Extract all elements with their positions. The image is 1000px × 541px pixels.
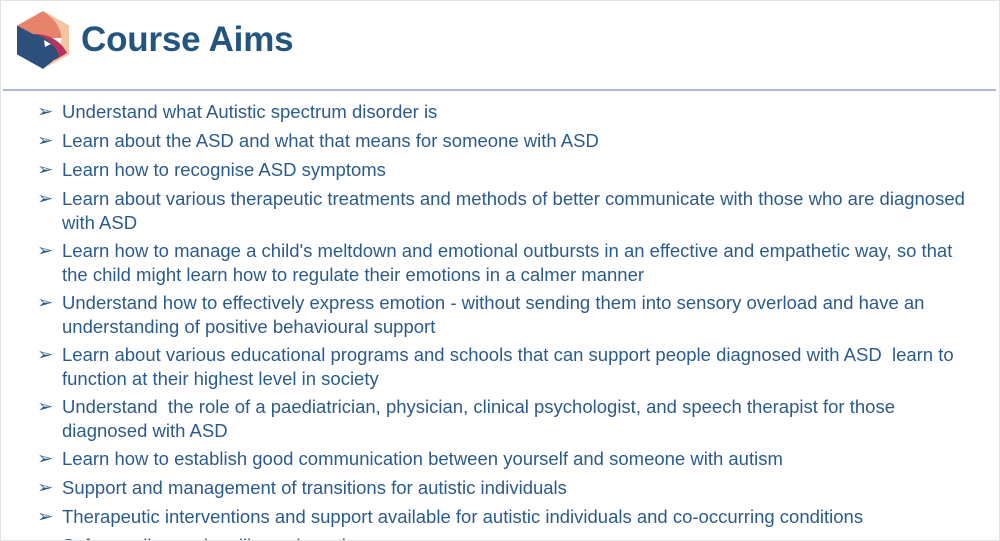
list-item-text: Learn about various therapeutic treatmen… (62, 187, 982, 234)
arrowhead-bullet-icon: ➢ (37, 158, 66, 182)
arrowhead-bullet-icon: ➢ (37, 187, 66, 211)
course-aims-list: ➢ Understand what Autistic spectrum diso… (1, 100, 1000, 541)
list-item-text: Learn how to establish good communicatio… (62, 447, 982, 471)
list-item: ➢ Learn about various educational progra… (1, 343, 1000, 390)
list-item-text: Learn how to manage a child's meltdown a… (62, 239, 982, 286)
arrowhead-bullet-icon: ➢ (37, 129, 66, 153)
slide-canvas: Course Aims ➢ Understand what Autistic s… (0, 0, 1000, 541)
arrowhead-bullet-icon: ➢ (37, 239, 66, 263)
arrowhead-bullet-icon: ➢ (37, 505, 66, 529)
list-item-text: Understand how to effectively express em… (62, 291, 982, 338)
list-item-text: Learn about various educational programs… (62, 343, 982, 390)
arrowhead-bullet-icon: ➢ (37, 395, 66, 419)
list-item: ➢ Understand how to effectively express … (1, 291, 1000, 338)
list-item: ➢ Learn about various therapeutic treatm… (1, 187, 1000, 234)
list-item: ➢ Learn how to recognise ASD symptoms (1, 158, 1000, 182)
list-item-text: Understand the role of a paediatrician, … (62, 395, 982, 442)
list-item-text: Safeguarding and resilience in autism (62, 534, 982, 541)
list-item: ➢ Understand the role of a paediatrician… (1, 395, 1000, 442)
arrowhead-bullet-icon: ➢ (37, 100, 66, 124)
page-title: Course Aims (81, 17, 293, 63)
hexagon-swoosh-logo-icon (11, 8, 75, 72)
list-item-text: Understand what Autistic spectrum disord… (62, 100, 982, 124)
list-item-text: Learn about the ASD and what that means … (62, 129, 982, 153)
arrowhead-bullet-icon: ➢ (37, 291, 66, 315)
slide-header: Course Aims (1, 1, 1000, 91)
list-item: ➢ Learn about the ASD and what that mean… (1, 129, 1000, 153)
list-item: ➢ Therapeutic interventions and support … (1, 505, 1000, 529)
list-item: ➢ Understand what Autistic spectrum diso… (1, 100, 1000, 124)
list-item: ➢ Learn how to manage a child's meltdown… (1, 239, 1000, 286)
list-item-text: Learn how to recognise ASD symptoms (62, 158, 982, 182)
arrowhead-bullet-icon: ➢ (37, 343, 66, 367)
list-item: ➢ Support and management of transitions … (1, 476, 1000, 500)
list-item-text: Therapeutic interventions and support av… (62, 505, 982, 529)
list-item: ➢ Safeguarding and resilience in autism (1, 534, 1000, 541)
arrowhead-bullet-icon: ➢ (37, 476, 66, 500)
list-item-text: Support and management of transitions fo… (62, 476, 982, 500)
arrowhead-bullet-icon: ➢ (37, 534, 66, 541)
header-divider (3, 89, 996, 91)
arrowhead-bullet-icon: ➢ (37, 447, 66, 471)
list-item: ➢ Learn how to establish good communicat… (1, 447, 1000, 471)
